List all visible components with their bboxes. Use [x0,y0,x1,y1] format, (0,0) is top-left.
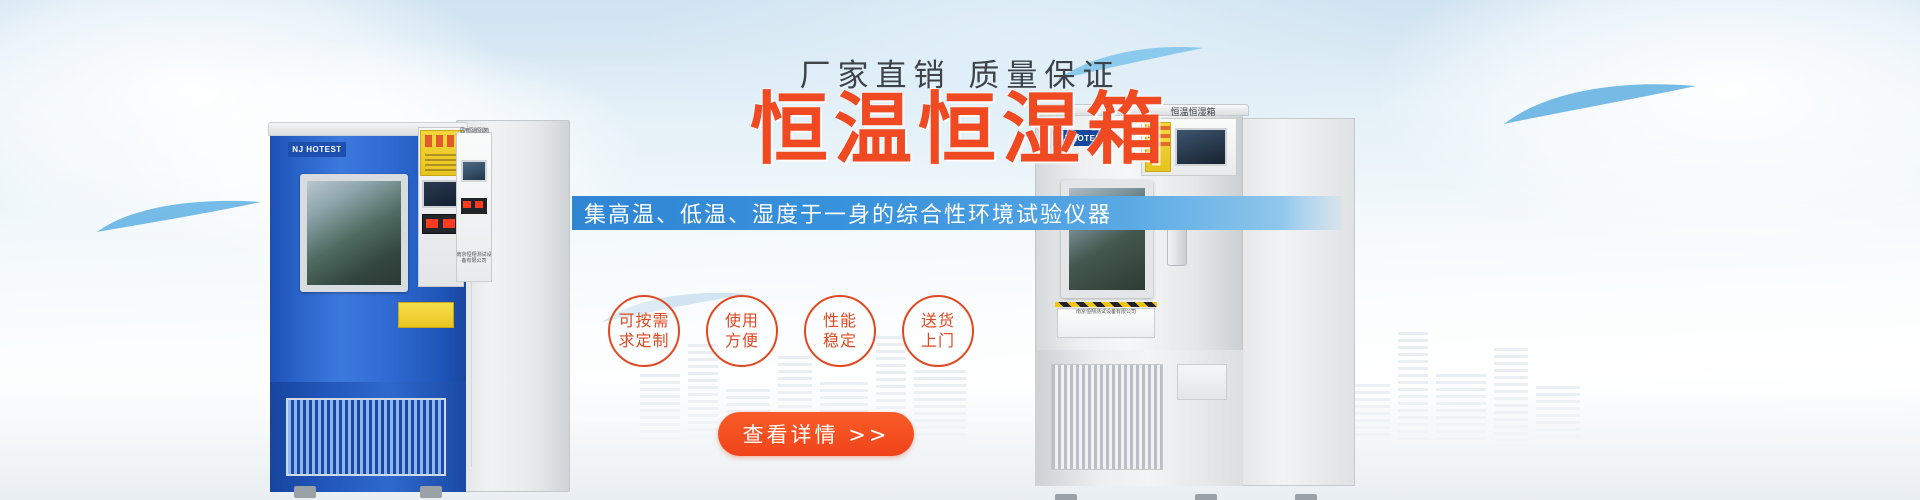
feature-circle-easy-use[interactable]: 使用 方便 [706,295,778,367]
machine-left-indicator-leds [422,214,458,234]
banner-subtitle-bar: 集高温、低温、湿度于一身的综合性环境试验仪器 [572,196,1342,230]
banner-headline: 恒温恒湿箱 [600,90,1320,170]
machine-left-vertical-label: 医用恒温恒湿箱 [460,128,488,154]
machine-left-aux-screen [461,160,487,182]
feature-circle-line1: 性能 [823,311,857,331]
machine-left-aux-leds [461,198,487,214]
machine-left-foot [294,486,316,498]
banner-copy-block: 厂家直销 质量保证 恒温恒湿箱 集高温、低温、湿度于一身的综合性环境试验仪器 可… [600,0,1320,500]
feature-circle-line2: 上门 [921,331,955,351]
feature-circle-delivery[interactable]: 送货 上门 [902,295,974,367]
feature-circle-line1: 可按需 [618,311,669,331]
feature-circle-custom[interactable]: 可按需 求定制 [608,295,680,367]
promo-banner: NJ HOTEST 医用恒温恒湿箱 南京恒翔测试设备有限公司 恒温恒湿箱 NJ … [0,0,1920,500]
feature-circle-stable[interactable]: 性能 稳定 [804,295,876,367]
feature-circle-line2: 稳定 [823,331,857,351]
view-details-button[interactable]: 查看详情 >> [718,412,914,456]
machine-left-vent-grille [286,398,446,476]
machine-left-foot [420,486,442,498]
banner-subtitle-text: 集高温、低温、湿度于一身的综合性环境试验仪器 [572,197,1112,229]
feature-circle-line1: 使用 [725,311,759,331]
feature-circle-line2: 方便 [725,331,759,351]
feature-circle-line1: 送货 [921,311,955,331]
feature-circle-line2: 求定制 [618,331,669,351]
machine-left-viewing-window [300,174,408,292]
machine-left-spec-sticker [398,302,454,328]
machine-left-display-screen [422,180,458,208]
machine-left-footer-text: 南京恒翔测试设备有限公司 [456,252,492,264]
product-image-left: NJ HOTEST 医用恒温恒湿箱 南京恒翔测试设备有限公司 [270,102,570,492]
feature-circle-list: 可按需 求定制 使用 方便 性能 稳定 送货 上门 [608,295,1328,375]
machine-left-brand-logo: NJ HOTEST [288,142,346,157]
